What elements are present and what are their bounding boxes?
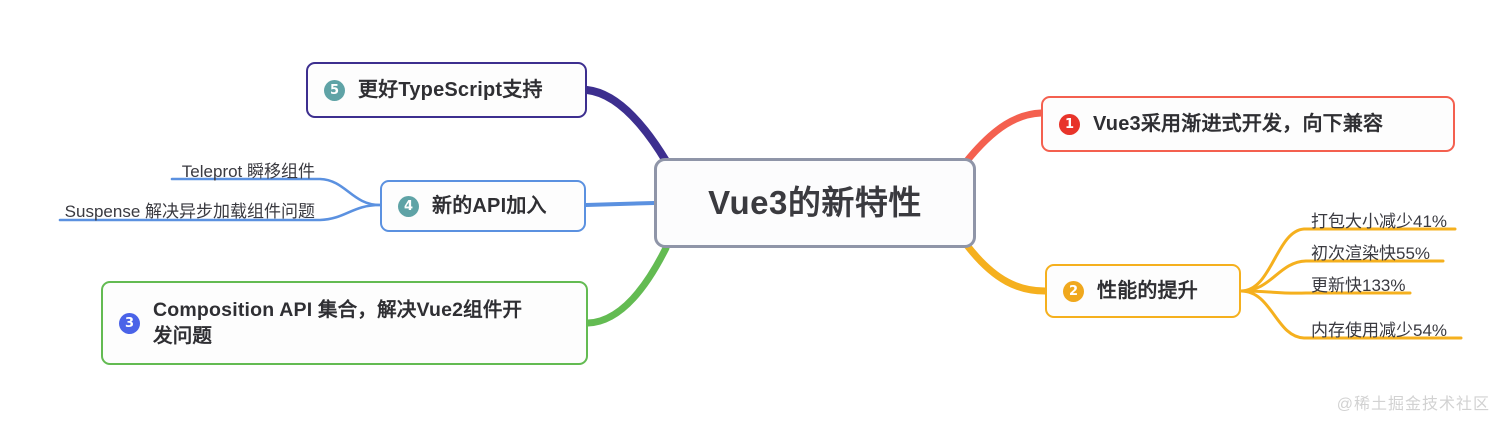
branch-line-4	[586, 203, 654, 205]
branch-node-3-label-line2: 发问题	[153, 325, 212, 347]
leaf-item-suspense[interactable]: Suspense 解决异步加载组件问题	[0, 203, 315, 220]
branch-node-2[interactable]: 2 性能的提升	[1045, 264, 1241, 318]
badge-number-3: 3	[119, 313, 140, 334]
branch-node-1[interactable]: 1 Vue3采用渐进式开发，向下兼容	[1041, 96, 1455, 152]
branch-line-5	[587, 90, 666, 161]
branch-node-4-label: 新的API加入	[432, 193, 547, 220]
branch-line-2	[966, 244, 1045, 291]
center-node-label: Vue3的新特性	[708, 181, 922, 226]
mindmap-canvas: Vue3的新特性 1 Vue3采用渐进式开发，向下兼容 2 性能的提升 打包大小…	[0, 0, 1512, 428]
leaf-item-teleprot[interactable]: Teleprot 瞬移组件	[0, 163, 315, 180]
leaf-item-update-speed[interactable]: 更新快133%	[1311, 277, 1405, 294]
badge-number-2: 2	[1063, 281, 1084, 302]
branch-node-3-label-line1: Composition API 集合，解决Vue2组件开	[153, 299, 522, 321]
branch-node-3-label: Composition API 集合，解决Vue2组件开 发问题	[153, 297, 522, 350]
leaf-item-packaging-size[interactable]: 打包大小减少41%	[1311, 213, 1447, 230]
leaf-item-memory-usage[interactable]: 内存使用减少54%	[1311, 322, 1447, 339]
branch-node-3[interactable]: 3 Composition API 集合，解决Vue2组件开 发问题	[101, 281, 588, 365]
branch-node-4[interactable]: 4 新的API加入	[380, 180, 586, 232]
badge-number-1: 1	[1059, 114, 1080, 135]
branch-line-1	[966, 113, 1041, 162]
branch-node-2-label: 性能的提升	[1097, 278, 1198, 305]
center-node[interactable]: Vue3的新特性	[654, 158, 976, 248]
branch-line-3	[588, 248, 666, 323]
badge-number-5: 5	[324, 80, 345, 101]
badge-number-4: 4	[398, 196, 419, 217]
leaf-item-first-render[interactable]: 初次渲染快55%	[1311, 245, 1430, 262]
branch-node-5-label: 更好TypeScript支持	[358, 77, 543, 104]
branch-node-1-label: Vue3采用渐进式开发，向下兼容	[1093, 111, 1383, 138]
watermark: @稀土掘金技术社区	[1337, 390, 1490, 414]
branch-node-5[interactable]: 5 更好TypeScript支持	[306, 62, 587, 118]
